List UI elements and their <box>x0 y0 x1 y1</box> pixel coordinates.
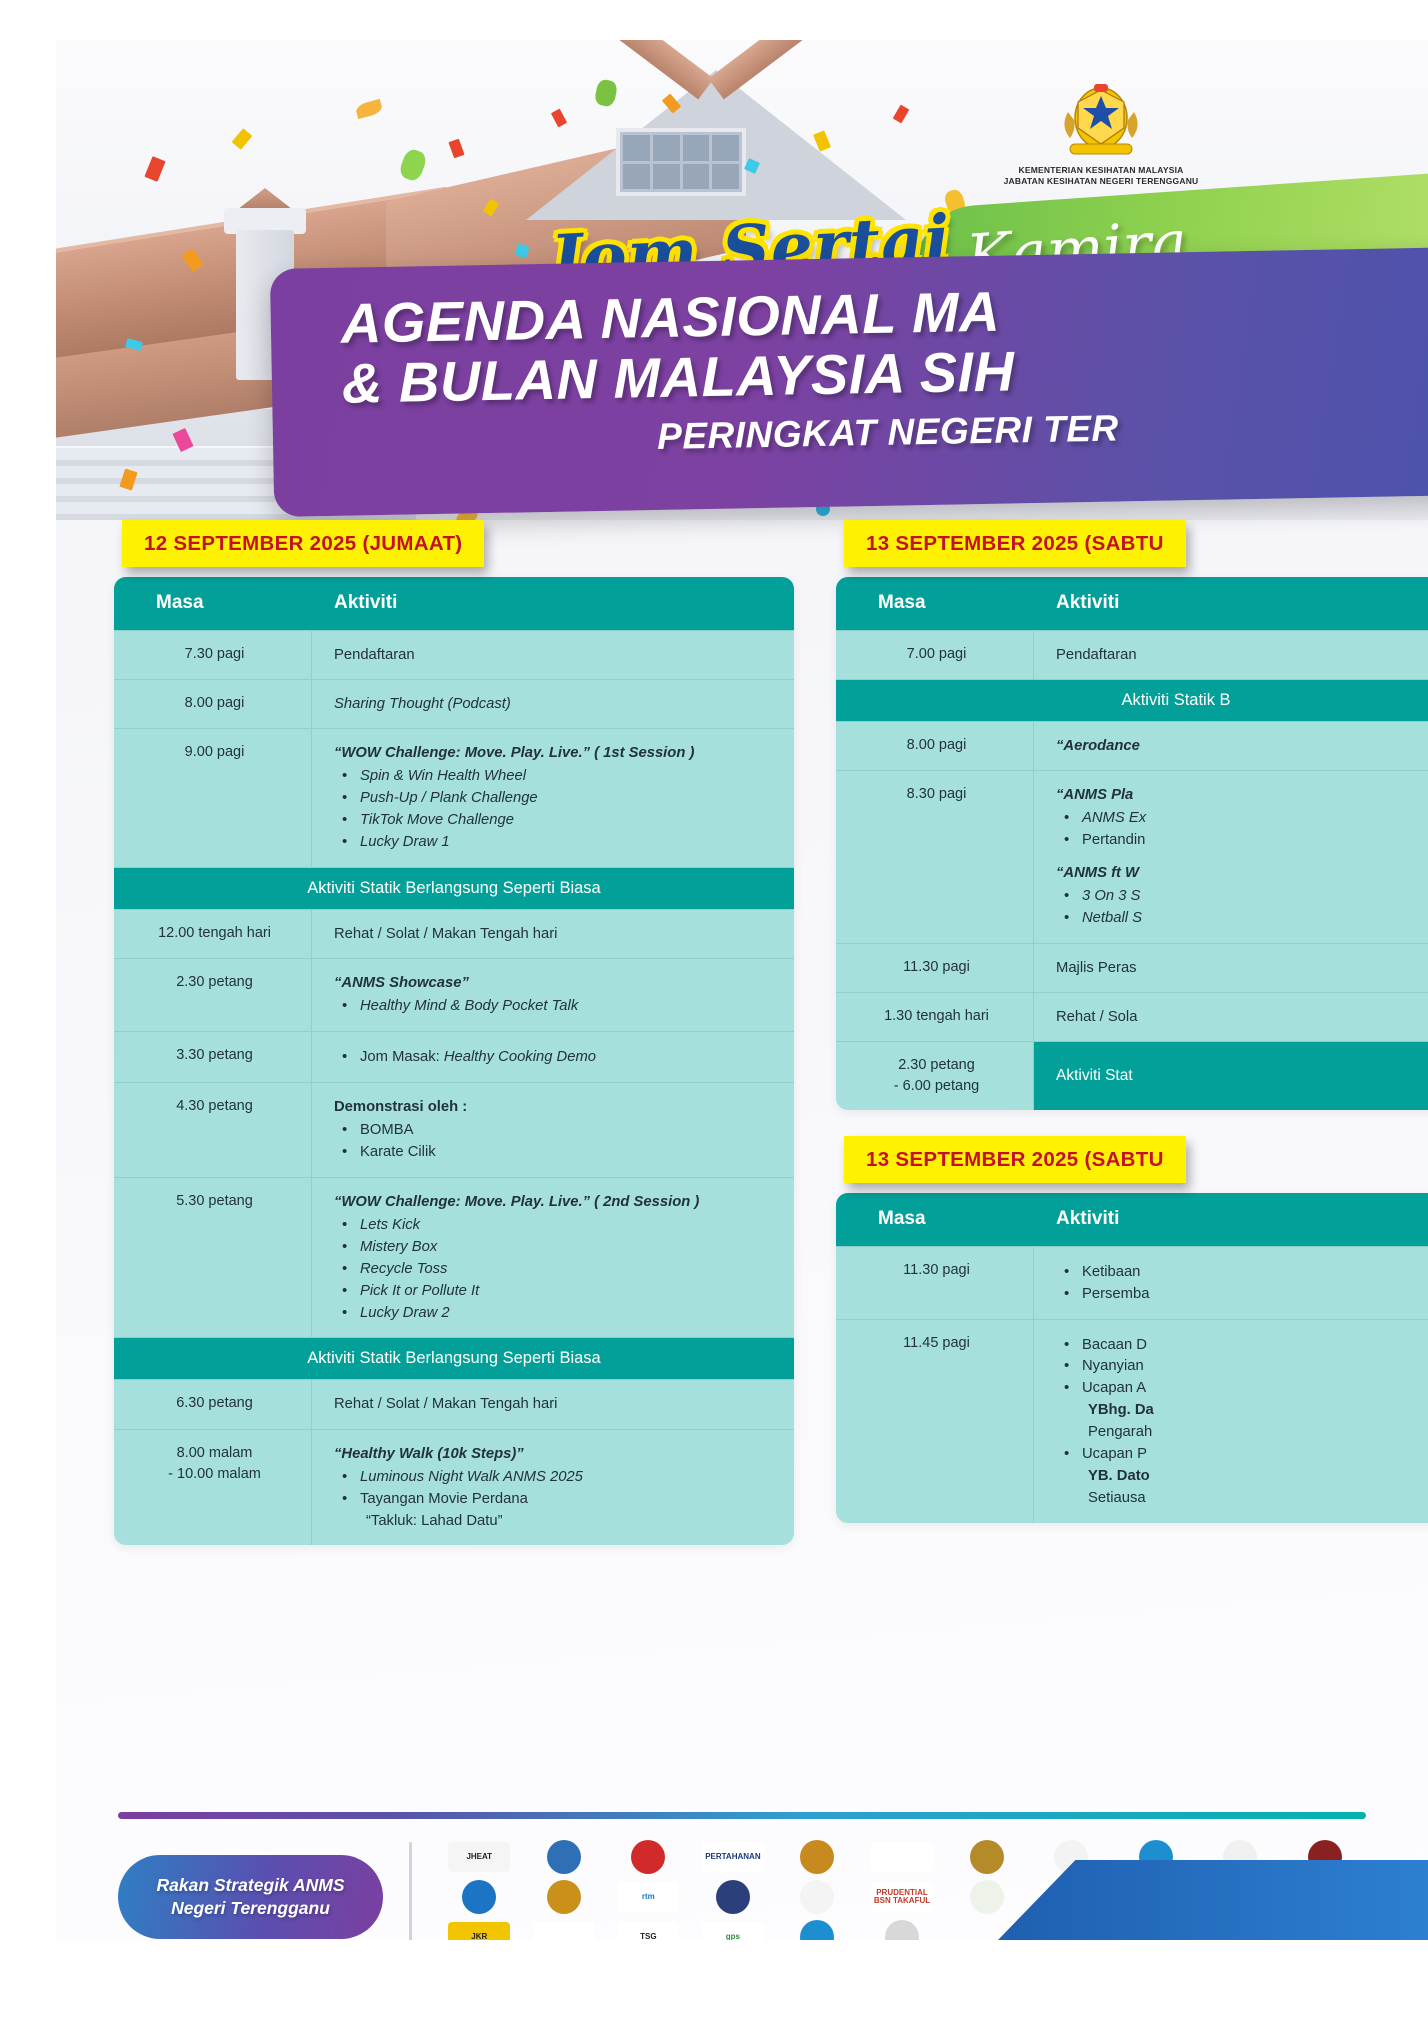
activity-bullet: Recycle Toss <box>334 1259 778 1281</box>
table-header-row: Masa Aktiviti <box>114 577 794 630</box>
activity-title: “ANMS Pla <box>1056 784 1428 806</box>
activity-bullet-list: BOMBAKarate Cilik <box>334 1120 778 1164</box>
activity-title: Rehat / Solat / Makan Tengah hari <box>334 923 778 945</box>
table-row: 2.30 petang- 6.00 petang Aktiviti Stat <box>836 1041 1428 1110</box>
column-header-activity: Aktiviti <box>312 577 794 630</box>
row-activity: Rehat / Solat / Makan Tengah hari <box>312 910 794 958</box>
activity-bullet: Lets Kick <box>334 1215 778 1237</box>
penjara-logo <box>716 1880 750 1914</box>
row-activity: “WOW Challenge: Move. Play. Live.” ( 2nd… <box>312 1178 794 1338</box>
activity-bullet-list: Jom Masak: Healthy Cooking Demo <box>334 1047 778 1069</box>
schedule-block: 13 SEPTEMBER 2025 (SABTU Masa Aktiviti 7… <box>836 520 1428 1110</box>
row-time: 7.30 pagi <box>114 631 312 679</box>
activity-bullet: Persemba <box>1056 1284 1428 1306</box>
activity-bullet-list: KetibaanPersemba <box>1056 1262 1428 1306</box>
table-row: 8.00 malam- 10.00 malam “Healthy Walk (1… <box>114 1429 794 1546</box>
activity-bullet-list: Lets KickMistery BoxRecycle TossPick It … <box>334 1215 778 1324</box>
activity-bullet: Pick It or Pollute It <box>334 1281 778 1303</box>
pdrm-logo <box>970 1880 1004 1914</box>
prudential-bsn-logo: PRUDENTIAL BSN TAKAFUL <box>871 1882 933 1912</box>
row-activity: “ANMS Showcase”Healthy Mind & Body Pocke… <box>312 959 794 1031</box>
table-row: 7.30 pagi Pendaftaran <box>114 630 794 679</box>
activity-bullet: Lucky Draw 1 <box>334 832 778 854</box>
activity-bullet: ANMS Ex <box>1056 808 1428 830</box>
activity-title: Pendaftaran <box>1056 644 1428 666</box>
activity-bullet: Jom Masak: Healthy Cooking Demo <box>334 1047 778 1069</box>
activity-bullet-list: 3 On 3 SNetball S <box>1056 886 1428 930</box>
footer-separator <box>409 1842 412 1940</box>
activity-title: Rehat / Solat / Makan Tengah hari <box>334 1393 778 1415</box>
table-row: 7.00 pagi Pendaftaran <box>836 630 1428 679</box>
column-header-activity: Aktiviti <box>1034 1193 1428 1246</box>
activity-title: “WOW Challenge: Move. Play. Live.” ( 1st… <box>334 742 778 764</box>
bomba-logo <box>631 1840 665 1874</box>
activity-bullet: Push-Up / Plank Challenge <box>334 788 778 810</box>
activity-title: Pendaftaran <box>334 644 778 666</box>
row-time: 11.30 pagi <box>836 944 1034 992</box>
table-row: 12.00 tengah hari Rehat / Solat / Makan … <box>114 909 794 958</box>
banner-label: Aktiviti Statik Berlangsung Seperti Bias… <box>114 1338 794 1379</box>
activity-title: “ANMS Showcase” <box>334 972 778 994</box>
jata-negara-icon <box>1056 82 1146 160</box>
table-banner-row: Aktiviti Statik B <box>836 679 1428 721</box>
footer-divider <box>118 1812 1366 1819</box>
page-frame: Jom Sertai Kamira KEMENTERIAN KESIHATAN … <box>56 40 1428 1940</box>
schedule-columns: 12 SEPTEMBER 2025 (JUMAAT) Masa Aktiviti… <box>56 520 1428 1545</box>
row-time: 8.30 pagi <box>836 771 1034 943</box>
activity-bullet-list: Spin & Win Health WheelPush-Up / Plank C… <box>334 766 778 854</box>
felda-logo <box>800 1880 834 1914</box>
activity-bullet: BOMBA <box>334 1120 778 1142</box>
activity-bullet: Ucapan AYBhg. DaPengarah <box>1056 1378 1428 1444</box>
row-activity: “WOW Challenge: Move. Play. Live.” ( 1st… <box>312 729 794 867</box>
row-activity: Rehat / Sola <box>1034 993 1428 1041</box>
column-header-time: Masa <box>836 577 1034 630</box>
row-time: 8.00 pagi <box>836 722 1034 770</box>
row-time: 2.30 petang <box>114 959 312 1031</box>
rtm-logo: rtm <box>617 1882 679 1912</box>
row-activity: Sharing Thought (Podcast) <box>312 680 794 728</box>
row-activity: Jom Masak: Healthy Cooking Demo <box>312 1032 794 1082</box>
gps-logo: gps <box>702 1922 764 1940</box>
column-header-time: Masa <box>114 577 312 630</box>
banner-label: Aktiviti Statik Berlangsung Seperti Bias… <box>114 868 794 909</box>
kkm-logo <box>871 1842 933 1872</box>
row-activity: Pendaftaran <box>1034 631 1428 679</box>
activity-bullet-list: ANMS ExPertandin <box>1056 808 1428 852</box>
activity-bullet: Luminous Night Walk ANMS 2025 <box>334 1467 778 1489</box>
row-activity: Majlis Peras <box>1034 944 1428 992</box>
table-row: 5.30 petang “WOW Challenge: Move. Play. … <box>114 1177 794 1338</box>
column-header-activity: Aktiviti <box>1034 577 1428 630</box>
jheat-logo: JHEAT <box>448 1842 510 1872</box>
row-time: 12.00 tengah hari <box>114 910 312 958</box>
activity-bullet-list: Luminous Night Walk ANMS 2025Tayangan Mo… <box>334 1467 778 1533</box>
row-activity: “Healthy Walk (10k Steps)”Luminous Night… <box>312 1430 794 1546</box>
jkm-logo <box>547 1880 581 1914</box>
table-row: 11.30 pagi KetibaanPersemba <box>836 1246 1428 1319</box>
row-activity: Rehat / Solat / Makan Tengah hari <box>312 1380 794 1428</box>
row-time: 9.00 pagi <box>114 729 312 867</box>
schedule-block: 13 SEPTEMBER 2025 (SABTU Masa Aktiviti 1… <box>836 1136 1428 1522</box>
schedule-table: Masa Aktiviti 11.30 pagi KetibaanPersemb… <box>836 1193 1428 1522</box>
pertahanan-logo: PERTAHANAN <box>702 1842 764 1872</box>
activity-bullet: 3 On 3 S <box>1056 886 1428 908</box>
table-row: 2.30 petang “ANMS Showcase”Healthy Mind … <box>114 958 794 1031</box>
activity-bullet: Mistery Box <box>334 1237 778 1259</box>
table-row: 6.30 petang Rehat / Solat / Makan Tengah… <box>114 1379 794 1428</box>
jata-logo <box>547 1840 581 1874</box>
row-activity: Pendaftaran <box>312 631 794 679</box>
activity-bullet: Tayangan Movie Perdana“Takluk: Lahad Dat… <box>334 1489 778 1533</box>
row-time: 6.30 petang <box>114 1380 312 1428</box>
partner-label-line2: Negeri Terengganu <box>171 1897 330 1920</box>
activity-bullet: TikTok Move Challenge <box>334 810 778 832</box>
row-activity: “Aerodance <box>1034 722 1428 770</box>
row-activity: “ANMS PlaANMS ExPertandin“ANMS ft W3 On … <box>1034 771 1428 943</box>
schedule-table: Masa Aktiviti 7.00 pagi PendaftaranAktiv… <box>836 577 1428 1110</box>
activity-bullet: Karate Cilik <box>334 1142 778 1164</box>
activity-title: “ANMS ft W <box>1056 862 1428 884</box>
activity-bullet-list: Healthy Mind & Body Pocket Talk <box>334 996 778 1018</box>
row-time: 3.30 petang <box>114 1032 312 1082</box>
row-activity: Demonstrasi oleh :BOMBAKarate Cilik <box>312 1083 794 1177</box>
activity-bullet: Nyanyian <box>1056 1356 1428 1378</box>
majlis-logo <box>885 1920 919 1940</box>
partner-badge: Rakan Strategik ANMS Negeri Terengganu <box>118 1855 383 1939</box>
date-chip: 13 SEPTEMBER 2025 (SABTU <box>844 1136 1186 1183</box>
schedule-table: Masa Aktiviti 7.30 pagi Pendaftaran 8.00… <box>114 577 794 1545</box>
table-header-row: Masa Aktiviti <box>836 1193 1428 1246</box>
poster-root: Jom Sertai Kamira KEMENTERIAN KESIHATAN … <box>0 0 1428 2018</box>
activity-bullet-list: Bacaan DNyanyianUcapan AYBhg. DaPengarah… <box>1056 1335 1428 1510</box>
activity-bullet: Pertandin <box>1056 830 1428 852</box>
row-banner-label: Aktiviti Stat <box>1034 1042 1428 1110</box>
table-row: 8.30 pagi “ANMS PlaANMS ExPertandin“ANMS… <box>836 770 1428 943</box>
activity-title: Sharing Thought (Podcast) <box>334 693 778 715</box>
date-chip: 12 SEPTEMBER 2025 (JUMAAT) <box>122 520 484 567</box>
tsg-logo: TSG <box>617 1922 679 1940</box>
activity-bullet: Lucky Draw 2 <box>334 1303 778 1325</box>
activity-bullet: Bacaan D <box>1056 1335 1428 1357</box>
schedule-block: 12 SEPTEMBER 2025 (JUMAAT) Masa Aktiviti… <box>114 520 794 1545</box>
activity-bullet: Spin & Win Health Wheel <box>334 766 778 788</box>
table-row: 9.00 pagi “WOW Challenge: Move. Play. Li… <box>114 728 794 867</box>
activity-title: Majlis Peras <box>1056 957 1428 979</box>
activity-bullet: Ketibaan <box>1056 1262 1428 1284</box>
row-time: 8.00 pagi <box>114 680 312 728</box>
ministry-crest: KEMENTERIAN KESIHATAN MALAYSIA JABATAN K… <box>986 82 1216 188</box>
partner-label-line1: Rakan Strategik ANMS <box>156 1874 344 1897</box>
row-time: 11.45 pagi <box>836 1320 1034 1523</box>
table-row: 8.00 pagi Sharing Thought (Podcast) <box>114 679 794 728</box>
column-header-time: Masa <box>836 1193 1034 1246</box>
table-row: 1.30 tengah hari Rehat / Sola <box>836 992 1428 1041</box>
row-time: 4.30 petang <box>114 1083 312 1177</box>
basikal-logo <box>800 1920 834 1940</box>
banner-label: Aktiviti Statik B <box>836 680 1428 721</box>
activity-title: “Aerodance <box>1056 735 1428 757</box>
row-time: 11.30 pagi <box>836 1247 1034 1319</box>
schedule-column-1: 12 SEPTEMBER 2025 (JUMAAT) Masa Aktiviti… <box>114 520 794 1545</box>
table-row: 11.45 pagi Bacaan DNyanyianUcapan AYBhg.… <box>836 1319 1428 1523</box>
row-time: 7.00 pagi <box>836 631 1034 679</box>
jabatan-logo <box>970 1840 1004 1874</box>
table-row: 8.00 pagi “Aerodance <box>836 721 1428 770</box>
row-activity: KetibaanPersemba <box>1034 1247 1428 1319</box>
row-time: 8.00 malam- 10.00 malam <box>114 1430 312 1546</box>
jkr-logo: JKR <box>448 1922 510 1940</box>
activity-title: Rehat / Sola <box>1056 1006 1428 1028</box>
table-header-row: Masa Aktiviti <box>836 577 1428 630</box>
malaysia-sihat-logo <box>462 1880 496 1914</box>
activity-title: Demonstrasi oleh : <box>334 1096 778 1118</box>
row-activity: Bacaan DNyanyianUcapan AYBhg. DaPengarah… <box>1034 1320 1428 1523</box>
activity-title: “Healthy Walk (10k Steps)” <box>334 1443 778 1465</box>
activity-bullet: Ucapan PYB. DatoSetiausa <box>1056 1444 1428 1510</box>
jabatan-kesihatan-logo <box>533 1922 595 1940</box>
title-plaque: AGENDA NASIONAL MA & BULAN MALAYSIA SIH … <box>270 247 1428 517</box>
table-row: 11.30 pagi Majlis Peras <box>836 943 1428 992</box>
activity-title: “WOW Challenge: Move. Play. Live.” ( 2nd… <box>334 1191 778 1213</box>
activity-bullet: Healthy Mind & Body Pocket Talk <box>334 996 778 1018</box>
table-row: 4.30 petang Demonstrasi oleh :BOMBAKarat… <box>114 1082 794 1177</box>
row-time: 2.30 petang- 6.00 petang <box>836 1042 1034 1110</box>
table-banner-row: Aktiviti Statik Berlangsung Seperti Bias… <box>114 1337 794 1379</box>
schedule-column-2: 13 SEPTEMBER 2025 (SABTU Masa Aktiviti 7… <box>836 520 1428 1545</box>
gable-window <box>616 128 746 196</box>
table-banner-row: Aktiviti Statik Berlangsung Seperti Bias… <box>114 867 794 909</box>
row-time: 1.30 tengah hari <box>836 993 1034 1041</box>
polis-logo <box>800 1840 834 1874</box>
table-row: 3.30 petang Jom Masak: Healthy Cooking D… <box>114 1031 794 1082</box>
row-time: 5.30 petang <box>114 1178 312 1338</box>
activity-bullet: Netball S <box>1056 908 1428 930</box>
crest-caption-line2: JABATAN KESIHATAN NEGERI TERENGGANU <box>986 176 1216 187</box>
date-chip: 13 SEPTEMBER 2025 (SABTU <box>844 520 1186 567</box>
crest-caption-line1: KEMENTERIAN KESIHATAN MALAYSIA <box>986 165 1216 176</box>
